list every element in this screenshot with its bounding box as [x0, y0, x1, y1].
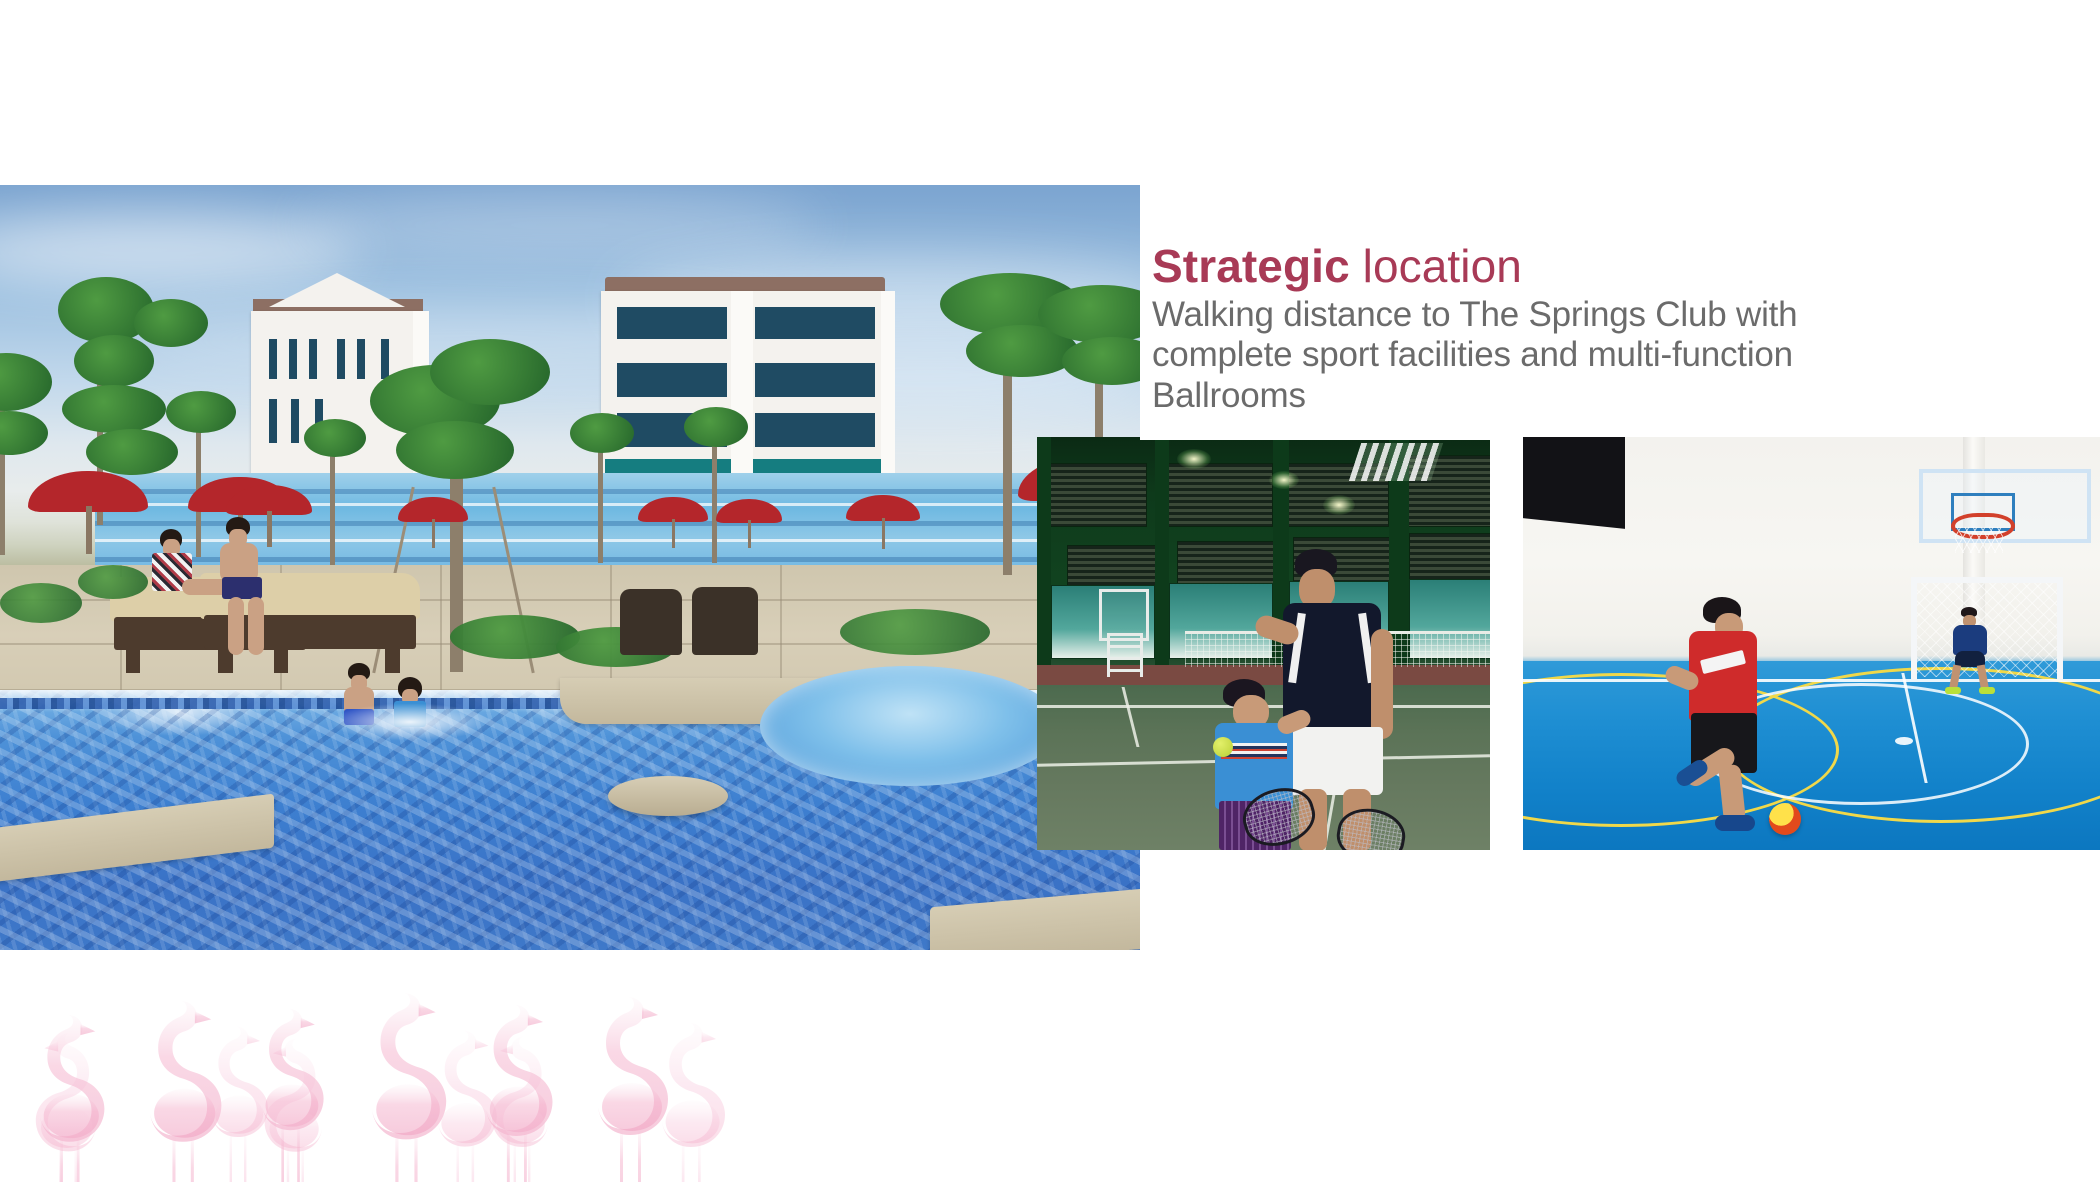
- tree-canopy: [86, 429, 178, 475]
- frangipani-canopy: [396, 421, 514, 479]
- tree-canopy: [74, 335, 154, 387]
- umpire-chair-ladder: [1107, 633, 1143, 677]
- umbrella-pole: [672, 519, 676, 549]
- cloud-shape: [300, 195, 820, 255]
- lounger-leg: [126, 648, 140, 673]
- window-slim: [269, 399, 277, 443]
- coach-shorts: [1287, 727, 1383, 795]
- man-legs: [248, 597, 264, 655]
- window-slim: [337, 339, 345, 379]
- tree-canopy: [0, 353, 52, 411]
- pool-umbrella: [398, 497, 468, 545]
- wall-louver: [1167, 463, 1273, 527]
- pool-umbrella: [846, 495, 920, 545]
- window-band: [617, 363, 727, 397]
- strategic-location-text-block: Strategic location Walking distance to T…: [1152, 243, 2012, 417]
- player-jersey: [1689, 631, 1757, 721]
- window-slim: [309, 339, 317, 379]
- page-title: Strategic location: [1152, 243, 2012, 291]
- tree-canopy: [684, 407, 748, 447]
- tree-canopy: [62, 385, 166, 433]
- window-band: [755, 307, 875, 339]
- foreground-pool-water: [0, 690, 1140, 950]
- man-swim-shorts: [222, 577, 262, 599]
- window-slim: [291, 399, 299, 443]
- umbrella-pole: [432, 519, 436, 549]
- deck-shrub: [840, 609, 990, 655]
- goal-post: [1911, 579, 1917, 679]
- swimming-pool-clubhouse-photo: [0, 185, 1140, 950]
- pool-umbrella: [638, 497, 708, 545]
- frangipani-canopy: [430, 339, 550, 405]
- center-spot: [1895, 737, 1913, 745]
- deck-shrub: [0, 583, 82, 623]
- window-band: [617, 307, 727, 339]
- basketball-net: [1955, 527, 2003, 553]
- indoor-tennis-court-photo: [1037, 437, 1490, 850]
- water-splash: [330, 703, 490, 741]
- umbrella-pole: [267, 511, 271, 547]
- window-band: [755, 413, 875, 447]
- pool-feature-ring: [608, 776, 728, 816]
- window-slim: [357, 339, 365, 379]
- tree-canopy: [134, 299, 208, 347]
- building-column: [881, 291, 895, 491]
- wall-pillar: [1155, 437, 1169, 667]
- skylight-panel: [1349, 443, 1443, 481]
- umbrella-pole: [882, 518, 886, 549]
- building-column: [731, 291, 753, 491]
- ceiling-light: [1177, 449, 1211, 469]
- goal-post: [2057, 579, 2063, 679]
- ceiling-light: [1323, 495, 1355, 515]
- man-legs: [228, 597, 244, 655]
- window-band: [755, 363, 875, 397]
- window-slim: [269, 339, 277, 379]
- goal-net: [1913, 583, 2061, 677]
- wicker-chair: [620, 589, 682, 655]
- lounger-leg: [385, 647, 400, 673]
- umbrella-pole: [748, 520, 751, 549]
- coach-arm: [1371, 629, 1393, 739]
- flamingo-watermark-svg: [0, 955, 760, 1182]
- building-gable: [269, 273, 405, 307]
- player-shoe: [1715, 815, 1755, 831]
- kids-pool: [760, 666, 1060, 786]
- window-slim: [289, 339, 297, 379]
- umbrella-pole: [86, 506, 92, 554]
- page-title-bold: Strategic: [1152, 240, 1350, 292]
- goalkeeper-shoe: [1979, 687, 1995, 694]
- ceiling-slab: [1523, 437, 1625, 529]
- tree-canopy: [0, 411, 48, 455]
- window-slim: [381, 339, 389, 379]
- tree-canopy: [166, 391, 236, 433]
- pool-umbrella: [716, 499, 782, 545]
- wall-pillar: [1037, 437, 1051, 667]
- goal-crossbar: [1911, 577, 2063, 583]
- page-title-light: location: [1350, 240, 1522, 292]
- court-line: [1523, 679, 2100, 682]
- ceiling-light: [1269, 471, 1299, 489]
- goalkeeper-shoe: [1945, 687, 1961, 694]
- pool-umbrella: [28, 471, 148, 549]
- tree-canopy: [304, 419, 366, 457]
- futsal-ball: [1769, 803, 1801, 835]
- deck-shrub: [78, 565, 148, 599]
- wall-louver: [1049, 463, 1147, 527]
- wicker-chair: [692, 587, 758, 655]
- flamingo-watermark: [0, 955, 760, 1182]
- tennis-ball: [1213, 737, 1233, 757]
- indoor-futsal-basketball-court-photo: [1523, 437, 2100, 850]
- tree-canopy: [570, 413, 634, 453]
- court-apron: [1037, 665, 1490, 687]
- page-description: Walking distance to The Springs Club wit…: [1152, 295, 1832, 417]
